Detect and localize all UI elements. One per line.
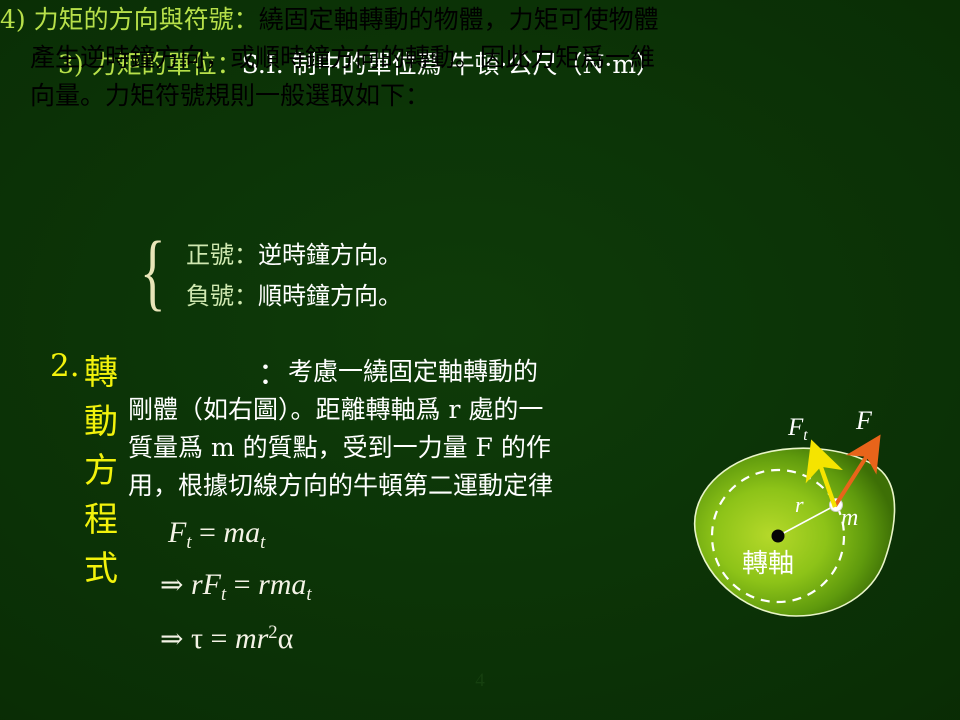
section-2-line-2: 剛體（如右圖）。距離轉軸爲 r 處的一 (128, 390, 543, 426)
equation-newton-tangential: Ft = mat (168, 516, 265, 554)
sign-rule-negative: 負號：順時鐘方向。 (186, 276, 402, 311)
section-2-colon: ： (258, 349, 288, 393)
bullet-4-line-3: 向量。力矩符號規則一般選取如下： (30, 76, 430, 112)
page-number: 4 (0, 670, 960, 692)
label-radius: r (795, 492, 804, 518)
label-tangential-force: Ft (788, 414, 808, 445)
sign-rule-positive-label: 正號 (186, 241, 234, 269)
label-rotation-axis: 轉軸 (742, 543, 794, 580)
bullet-4-line1-rest: 繞固定軸轉動的物體，力矩可使物體 (259, 5, 659, 34)
section-2-line-4: 用，根據切線方向的牛頓第二運動定律 (128, 466, 553, 502)
bullet-4-number: 4) (0, 5, 26, 34)
sign-rule-positive-text: 逆時鐘方向。 (258, 241, 402, 269)
sign-rule-negative-label: 負號 (186, 282, 234, 310)
equation-torque-step: ⇒ rFt = rmat (160, 568, 312, 606)
sign-rule-negative-colon: ： (234, 282, 258, 310)
sign-rule-negative-text: 順時鐘方向。 (258, 282, 402, 310)
rotation-axis-dot (772, 530, 785, 543)
bullet-4-keyword: 力矩的方向與符號 (34, 5, 234, 34)
bullet-4-line-1: 4) 力矩的方向與符號：繞固定軸轉動的物體，力矩可使物體 (0, 0, 659, 36)
rigid-body-shape (695, 448, 895, 616)
section-2-line1-rest: 考慮一繞固定軸轉動的 (288, 352, 538, 388)
left-curly-brace: { (140, 228, 166, 314)
section-2-number: 2. (50, 348, 80, 384)
slide-canvas: 3) 力矩的單位：S.I. 制中的單位爲 牛頓·公尺（N·m） 4) 力矩的方向… (0, 0, 960, 720)
rigid-body-rotation-diagram: Ft F r m 轉軸 (678, 408, 960, 648)
section-2-keyword: 轉動方程式 (84, 345, 118, 590)
equation-torque-final: ⇒ τ = mr2α (160, 622, 293, 656)
bullet-4-colon: ： (234, 5, 259, 34)
label-mass: m (841, 505, 858, 532)
sign-rule-positive-colon: ： (234, 241, 258, 269)
section-2-line-3: 質量爲 m 的質點，受到一力量 F 的作 (128, 428, 551, 464)
label-force: F (856, 406, 872, 436)
bullet-4-line-2: 產生逆時鐘方向，或順時鐘方向的轉動。因此力矩爲一維 (30, 38, 655, 74)
sign-rule-positive: 正號：逆時鐘方向。 (186, 235, 402, 270)
